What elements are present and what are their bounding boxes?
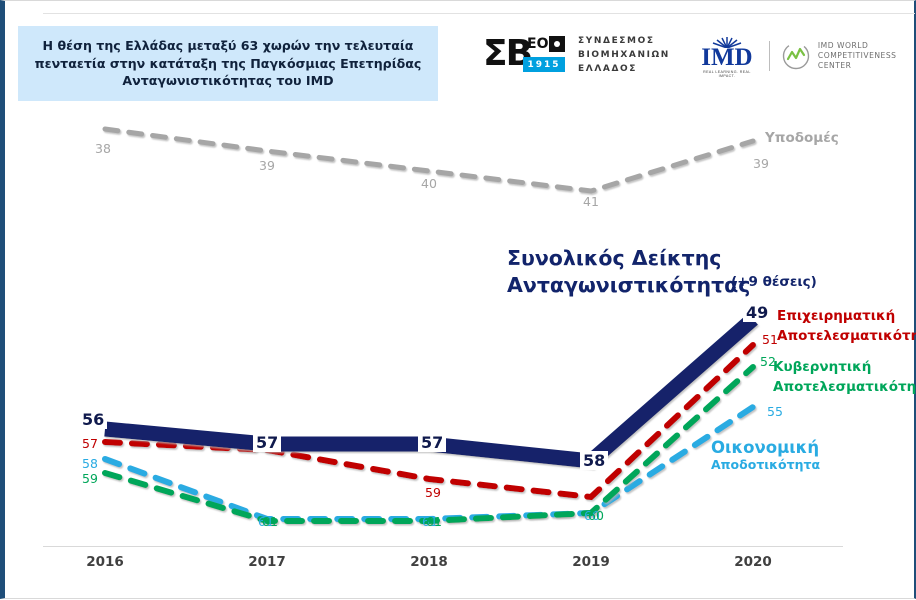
point-label-navy-2018: 57 bbox=[418, 433, 446, 452]
x-axis-tick-2017: 2017 bbox=[222, 554, 312, 570]
x-axis-tick-2020: 2020 bbox=[708, 554, 798, 570]
point-label-gray-2017: 39 bbox=[259, 158, 275, 173]
series-label-oikonomiki: Οικονομική Αποδοτικότητα bbox=[711, 439, 820, 472]
series-label-kyvernitiki-line2: Αποτελεσματικότητα bbox=[773, 378, 916, 398]
annotation-plus-9-positions: (+9 θέσεις) bbox=[731, 274, 817, 290]
series-label-synolikos-line2: Ανταγωνιστικότητας bbox=[507, 272, 750, 299]
series-label-kyvernitiki-line1: Κυβερνητική bbox=[773, 358, 916, 378]
series-label-kyvernitiki: Κυβερνητική Αποτελεσματικότητα bbox=[773, 358, 916, 397]
series-line-epixeirimatiki bbox=[105, 345, 753, 497]
x-axis-line bbox=[43, 546, 843, 547]
point-label-cyan-2020: 55 bbox=[767, 404, 783, 419]
point-label-red-2020: 51 bbox=[762, 332, 778, 347]
x-axis-tick-2018: 2018 bbox=[384, 554, 474, 570]
point-label-green-2017: 61 bbox=[262, 514, 278, 529]
series-label-epixeirimatiki: Επιχειρηματική Αποτελεσματικότητα bbox=[777, 307, 916, 346]
series-label-oikonomiki-line2: Αποδοτικότητα bbox=[711, 458, 820, 472]
point-label-green-2016: 59 bbox=[82, 471, 98, 486]
series-label-epixeirimatiki-line1: Επιχειρηματική bbox=[777, 307, 916, 327]
series-label-ypodomes: Υποδομές bbox=[765, 130, 839, 146]
point-label-gray-2016: 38 bbox=[95, 141, 111, 156]
point-label-navy-2020: 49 bbox=[743, 303, 771, 322]
slide-canvas: Η θέση της Ελλάδας μεταξύ 63 χωρών την τ… bbox=[0, 0, 916, 599]
x-axis-tick-2016: 2016 bbox=[60, 554, 150, 570]
point-label-gray-2018: 40 bbox=[421, 176, 437, 191]
point-label-gray-2020: 39 bbox=[753, 156, 769, 171]
point-label-cyan-2016: 58 bbox=[82, 456, 98, 471]
point-label-red-2018: 59 bbox=[425, 485, 441, 500]
point-label-green-2019: 60 bbox=[588, 508, 604, 523]
series-line-oikonomiki bbox=[105, 407, 753, 519]
x-axis-tick-2019: 2019 bbox=[546, 554, 636, 570]
series-label-synolikos: Συνολικός Δείκτης Ανταγωνιστικότητας bbox=[507, 245, 750, 299]
chart-svg bbox=[5, 1, 916, 600]
point-label-green-2018: 61 bbox=[426, 514, 442, 529]
series-label-synolikos-line1: Συνολικός Δείκτης bbox=[507, 245, 750, 272]
point-label-navy-2016: 56 bbox=[79, 410, 107, 429]
point-label-navy-2019: 58 bbox=[580, 451, 608, 470]
point-label-gray-2019: 41 bbox=[583, 194, 599, 209]
series-label-oikonomiki-line1: Οικονομική bbox=[711, 439, 820, 458]
point-label-navy-2017: 57 bbox=[253, 433, 281, 452]
point-label-red-2016: 57 bbox=[82, 436, 98, 451]
line-chart: 38 39 40 41 39 56 57 57 58 49 57 59 51 5… bbox=[5, 1, 916, 600]
series-label-epixeirimatiki-line2: Αποτελεσματικότητα bbox=[777, 327, 916, 347]
